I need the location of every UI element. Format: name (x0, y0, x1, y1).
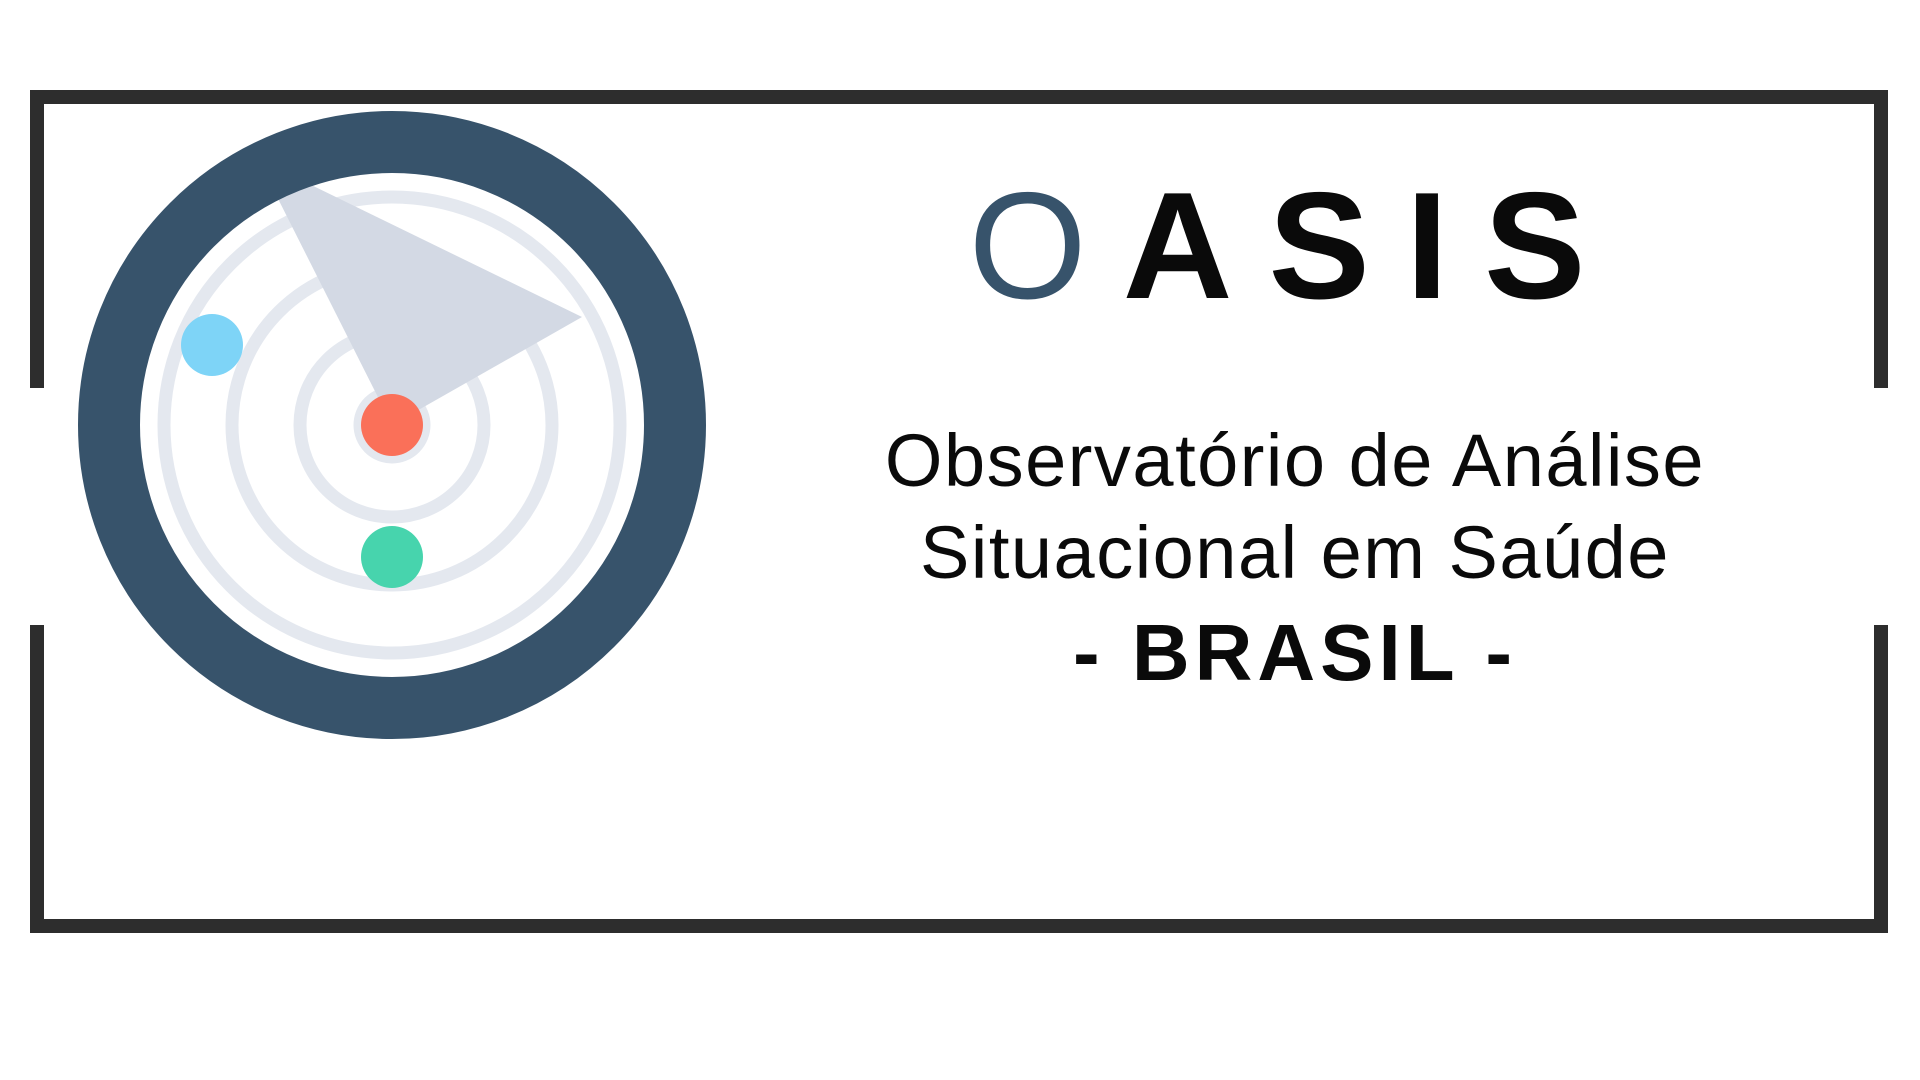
frame-top-left-arm (30, 90, 44, 388)
wordmark-letter-o: O (969, 161, 1123, 331)
frame-bottom-left-arm (30, 625, 44, 933)
tagline-line-1: Observatório de Análise (730, 420, 1860, 502)
frame-bottom-right-arm (1874, 625, 1888, 933)
logo-canvas: OASIS Observatório de Análise Situaciona… (0, 0, 1920, 1080)
radar-blip-green (361, 526, 423, 588)
frame-top-right-arm (1874, 90, 1888, 388)
tagline-line-2: Situacional em Saúde (730, 512, 1860, 594)
radar-icon (62, 95, 722, 755)
radar-blip-red (361, 394, 423, 456)
frame-bottom-bar (30, 919, 1888, 933)
logo-text-block: OASIS Observatório de Análise Situaciona… (730, 120, 1860, 810)
radar-blip-blue (181, 314, 243, 376)
brand-wordmark: OASIS (730, 170, 1860, 322)
wordmark-letters-asis: ASIS (1123, 161, 1622, 331)
country-label: - BRASIL - (730, 610, 1860, 696)
